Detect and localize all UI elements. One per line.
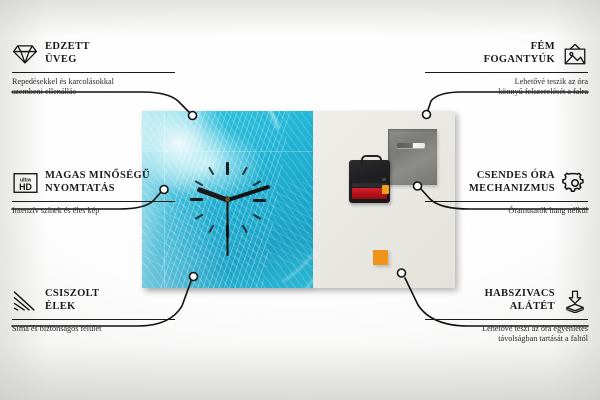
infographic-canvas: EDZETT ÜVEG Repedésekkel és karcolásokka… (0, 0, 600, 400)
callout-title-line1: CSISZOLT (45, 288, 99, 301)
callout-habszivacs-alatet[interactable]: HABSZIVACS ALÁTÉT Lehetővé teszi az óra … (413, 288, 588, 344)
callout-magas-minosegu-nyomtatas[interactable]: ultra HD MAGAS MINŐSÉGŰ NYOMTATÁS Intenz… (12, 170, 192, 216)
callout-title-line1: FÉM (531, 41, 555, 54)
callout-title-line2: ÉLEK (45, 301, 99, 314)
callout-header: EDZETT ÜVEG (12, 41, 187, 66)
callout-header: ultra HD MAGAS MINŐSÉGŰ NYOMTATÁS (12, 170, 192, 195)
foam-pad-arrow-icon (562, 289, 588, 313)
callout-titles: MAGAS MINŐSÉGŰ NYOMTATÁS (45, 170, 150, 195)
svg-text:HD: HD (19, 181, 32, 191)
callout-sub-line1: Sima és biztonságos felület (12, 324, 187, 334)
callout-titles: FÉM FOGANTYÚK (484, 41, 555, 66)
mechanism-hook (361, 155, 382, 165)
callout-sub-line1: Óramutatók hang nélkül (413, 206, 588, 216)
callout-sub-line1: Lehetővé teszi az óra egyenletes (413, 324, 588, 334)
clock-center-cap (225, 197, 230, 202)
callout-edzett-uveg[interactable]: EDZETT ÜVEG Repedésekkel és karcolásokka… (12, 41, 187, 97)
gear-icon (562, 171, 588, 195)
callout-titles: HABSZIVACS ALÁTÉT (485, 288, 555, 313)
callout-sub-line1: Intenzív színek és éles kép (12, 206, 192, 216)
callout-titles: CSISZOLT ÉLEK (45, 288, 99, 313)
wall-mount-frame-icon (562, 42, 588, 66)
clock-mechanism (349, 160, 390, 203)
callout-title-line1: HABSZIVACS (485, 288, 555, 301)
callout-divider (425, 72, 588, 73)
callout-header: CSISZOLT ÉLEK (12, 288, 187, 313)
callout-header: HABSZIVACS ALÁTÉT (413, 288, 588, 313)
hanger-slot (397, 143, 425, 148)
callout-title-line1: EDZETT (45, 41, 90, 54)
callout-divider (12, 319, 175, 320)
callout-title-line2: ÜVEG (45, 54, 90, 67)
callout-sub-line1: Lehetővé teszik az óra (413, 77, 588, 87)
callout-divider (425, 319, 588, 320)
callout-divider (12, 201, 175, 202)
callout-title-line1: CSENDES ÓRA (477, 170, 555, 183)
callout-divider (12, 72, 175, 73)
callout-title-line1: MAGAS MINŐSÉGŰ (45, 170, 150, 183)
callout-titles: CSENDES ÓRA MECHANIZMUS (469, 170, 555, 195)
ultra-hd-icon: ultra HD (12, 171, 38, 195)
callout-sub-line2: távolságban tartását a faltól (413, 334, 588, 344)
battery (352, 188, 387, 199)
callout-csendes-ora-mechanizmus[interactable]: CSENDES ÓRA MECHANIZMUS Óramutatók hang … (413, 170, 588, 216)
foam-pad (373, 250, 388, 265)
callout-title-line2: MECHANIZMUS (469, 183, 555, 196)
callout-fem-fogantyuk[interactable]: FÉM FOGANTYÚK Lehetővé teszik az óra kön… (413, 41, 588, 97)
callout-title-line2: ALÁTÉT (510, 301, 555, 314)
callout-sub-line1: Repedésekkel és karcolásokkal (12, 77, 187, 87)
polished-edges-icon (12, 289, 38, 313)
mechanism-button (382, 178, 386, 181)
callout-divider (425, 201, 588, 202)
clock-second-hand (227, 200, 229, 256)
callout-title-line2: FOGANTYÚK (484, 54, 555, 67)
diamond-icon (12, 42, 38, 66)
callout-sub-line2: könnyű felszerelését a falra (413, 87, 588, 97)
callout-titles: EDZETT ÜVEG (45, 41, 90, 66)
callout-csiszolt-elek[interactable]: CSISZOLT ÉLEK Sima és biztonságos felüle… (12, 288, 187, 334)
callout-title-line2: NYOMTATÁS (45, 183, 150, 196)
callout-header: CSENDES ÓRA MECHANIZMUS (413, 170, 588, 195)
callout-sub-line2: szembeni ellenállás (12, 87, 187, 97)
callout-header: FÉM FOGANTYÚK (413, 41, 588, 66)
